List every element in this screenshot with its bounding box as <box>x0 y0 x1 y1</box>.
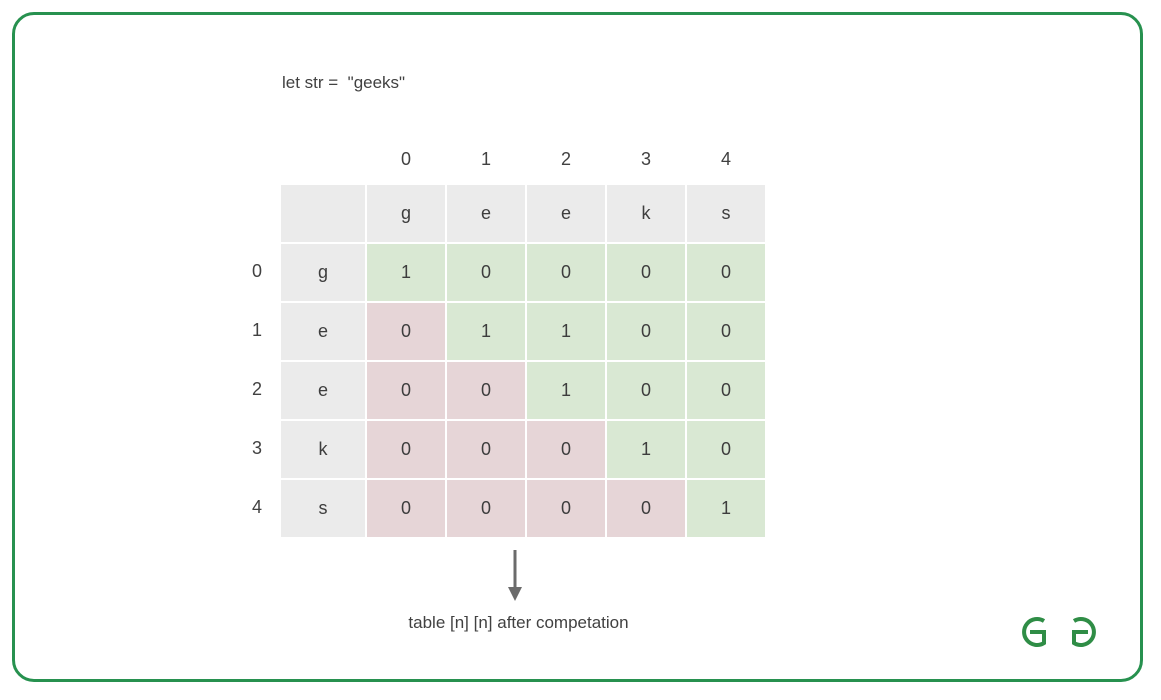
row-index-header: 01234 <box>241 243 273 538</box>
table-cell-0-4: 0 <box>687 244 765 301</box>
table-cell-3-2: 0 <box>527 421 605 478</box>
row-char-cell-2: e <box>281 362 365 419</box>
column-char-cell-3: k <box>607 185 685 242</box>
column-char-cell-2: e <box>527 185 605 242</box>
table-cell-1-4: 0 <box>687 303 765 360</box>
table-row: k00010 <box>281 421 767 478</box>
column-index-1: 1 <box>447 149 525 170</box>
table-cell-1-1: 1 <box>447 303 525 360</box>
table-cell-4-1: 0 <box>447 480 525 537</box>
table-row: s00001 <box>281 480 767 537</box>
diagram-frame: let str = "geeks" 01234 01234 geeksg1000… <box>12 12 1143 682</box>
table-cell-2-0: 0 <box>367 362 445 419</box>
column-index-2: 2 <box>527 149 605 170</box>
arrow-down-icon <box>500 550 530 602</box>
column-index-4: 4 <box>687 149 765 170</box>
table-corner-cell <box>281 185 365 242</box>
column-char-cell-0: g <box>367 185 445 242</box>
table-cell-4-4: 1 <box>687 480 765 537</box>
column-index-header: 01234 <box>367 149 767 170</box>
row-index-0: 0 <box>241 243 273 300</box>
table-cell-3-1: 0 <box>447 421 525 478</box>
column-char-cell-1: e <box>447 185 525 242</box>
table-row: e00100 <box>281 362 767 419</box>
row-char-cell-1: e <box>281 303 365 360</box>
row-char-cell-3: k <box>281 421 365 478</box>
table-cell-2-3: 0 <box>607 362 685 419</box>
row-index-4: 4 <box>241 479 273 536</box>
column-index-0: 0 <box>367 149 445 170</box>
row-index-3: 3 <box>241 420 273 477</box>
table-cell-1-3: 0 <box>607 303 685 360</box>
table-header-row: geeks <box>281 185 767 242</box>
table-cell-0-2: 0 <box>527 244 605 301</box>
column-index-3: 3 <box>607 149 685 170</box>
table-cell-0-1: 0 <box>447 244 525 301</box>
table-row: e01100 <box>281 303 767 360</box>
table-cell-0-3: 0 <box>607 244 685 301</box>
table-cell-0-0: 1 <box>367 244 445 301</box>
table-cell-3-4: 0 <box>687 421 765 478</box>
table-cell-4-0: 0 <box>367 480 445 537</box>
geeksforgeeks-logo <box>1022 609 1096 655</box>
row-index-2: 2 <box>241 361 273 418</box>
table-cell-2-4: 0 <box>687 362 765 419</box>
row-index-1: 1 <box>241 302 273 359</box>
row-char-cell-0: g <box>281 244 365 301</box>
table-row: g10000 <box>281 244 767 301</box>
table-cell-4-3: 0 <box>607 480 685 537</box>
diagram-caption: table [n] [n] after competation <box>15 613 1022 633</box>
column-char-cell-4: s <box>687 185 765 242</box>
table-cell-4-2: 0 <box>527 480 605 537</box>
table-cell-1-0: 0 <box>367 303 445 360</box>
table-cell-3-3: 1 <box>607 421 685 478</box>
table-cell-1-2: 1 <box>527 303 605 360</box>
row-char-cell-4: s <box>281 480 365 537</box>
table-cell-3-0: 0 <box>367 421 445 478</box>
table-cell-2-1: 0 <box>447 362 525 419</box>
string-declaration: let str = "geeks" <box>282 73 405 93</box>
dp-table: geeksg10000e01100e00100k00010s00001 <box>281 185 767 539</box>
table-cell-2-2: 1 <box>527 362 605 419</box>
